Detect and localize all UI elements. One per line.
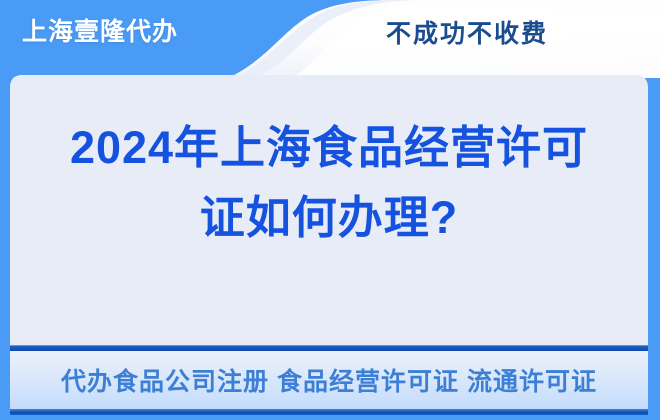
poster-canvas: 上海壹隆代办 不成功不收费 2024年上海食品经营许可 证如何办理? 代办食品公… <box>0 0 660 420</box>
footer-bottom-rule <box>10 409 648 415</box>
page-title-line-2: 证如何办理? <box>10 183 648 253</box>
header: 上海壹隆代办 不成功不收费 <box>0 0 660 78</box>
footer-bar: 代办食品公司注册 食品经营许可证 流通许可证 <box>0 345 660 420</box>
footer-keywords: 代办食品公司注册 食品经营许可证 流通许可证 <box>61 362 597 398</box>
brand-title: 上海壹隆代办 <box>22 20 178 45</box>
page-title: 2024年上海食品经营许可 证如何办理? <box>10 113 648 253</box>
page-title-line-1: 2024年上海食品经营许可 <box>10 113 648 183</box>
footer-keyword-strip: 代办食品公司注册 食品经营许可证 流通许可证 <box>10 351 648 409</box>
main-card: 2024年上海食品经营许可 证如何办理? <box>10 75 648 345</box>
slogan-text: 不成功不收费 <box>386 22 548 47</box>
